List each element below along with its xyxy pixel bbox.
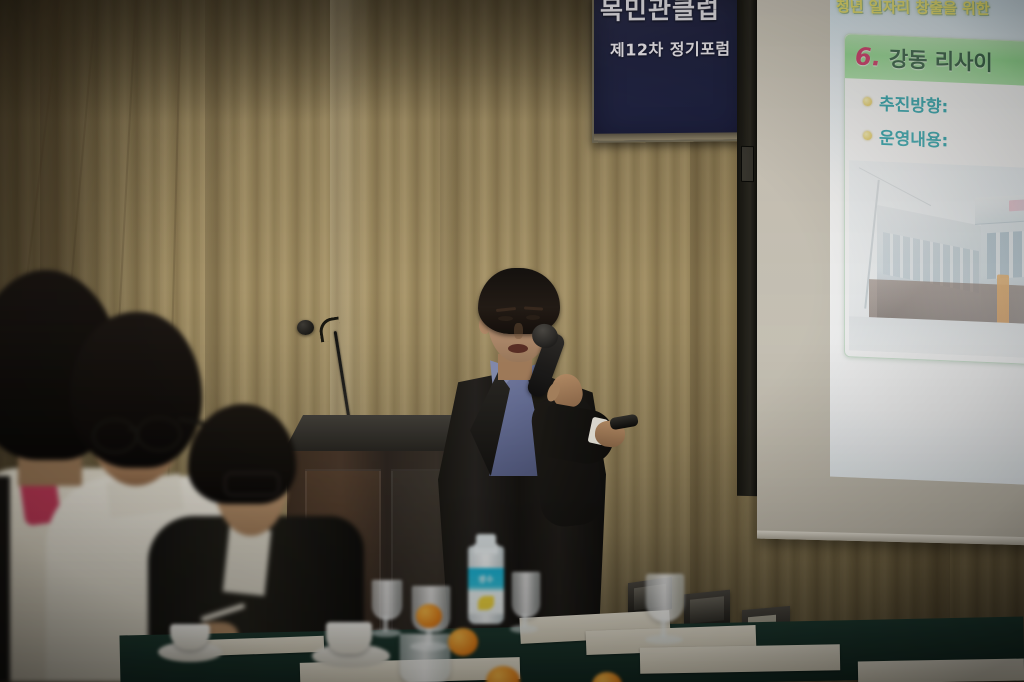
slide-section-heading: 강동 리사이 bbox=[889, 43, 993, 77]
eyeglasses-icon bbox=[92, 418, 138, 454]
presenter-eye bbox=[526, 315, 540, 320]
banner-title: 목민관클럽 bbox=[600, 0, 746, 27]
slide-section-number: 6. bbox=[855, 43, 881, 72]
drinking-glass bbox=[400, 634, 450, 682]
table-items: 생수 bbox=[0, 556, 1024, 682]
photo-front-windows bbox=[987, 227, 1024, 279]
teacup bbox=[326, 622, 372, 654]
presenter-eye bbox=[498, 316, 513, 321]
banner-subtitle: 제12차 정기포럼 bbox=[610, 35, 731, 60]
orange-fruit bbox=[592, 672, 622, 682]
projection-screen: 청년 일자리 창출을 위한 6. 강동 리사이 추진방향: 운영내용: bbox=[737, 0, 1024, 552]
slide-content-card: 6. 강동 리사이 추진방향: 운영내용: · 작가 창작 · bbox=[844, 33, 1024, 366]
glass-foot bbox=[510, 625, 538, 633]
bullet-dot-icon bbox=[863, 97, 872, 106]
projected-slide: 청년 일자리 창출을 위한 6. 강동 리사이 추진방향: 운영내용: bbox=[830, 0, 1024, 485]
presenter-mouth bbox=[508, 344, 528, 353]
lemon-graphic-icon bbox=[478, 596, 494, 610]
water-bottle-cap bbox=[476, 534, 496, 548]
screen-surface: 청년 일자리 창출을 위한 6. 강동 리사이 추진방향: 운영내용: bbox=[757, 0, 1024, 545]
water-bottle-label-text: 생수 bbox=[470, 574, 502, 585]
photo-ground bbox=[849, 316, 1024, 360]
screen-clip bbox=[741, 146, 754, 182]
slide-building-photo: 이료센터 bbox=[849, 160, 1024, 360]
forum-banner: 목민관클럽 제12차 정기포럼 bbox=[592, 0, 748, 143]
presenter-nose bbox=[514, 323, 523, 339]
drinking-glass bbox=[372, 580, 402, 620]
presenter-remote bbox=[609, 414, 639, 431]
photo-scene: 목민관클럽 제12차 정기포럼 청년 일자리 창출을 위한 6. 강동 리사이 bbox=[0, 0, 1024, 682]
eyeglasses-icon bbox=[136, 416, 182, 452]
orange-fruit bbox=[448, 628, 478, 656]
eyeglasses-icon bbox=[224, 472, 280, 496]
slide-section-header: 6. 강동 리사이 bbox=[845, 34, 1024, 87]
drinking-glass bbox=[646, 574, 684, 622]
orange-fruit bbox=[486, 666, 520, 682]
slide-handwritten-title: 청년 일자리 창출을 위한 bbox=[836, 0, 1024, 25]
screen-bottom-bar bbox=[757, 531, 1024, 546]
bullet-dot-icon bbox=[863, 131, 872, 140]
banner-bottom-rail bbox=[594, 132, 746, 141]
slide-bullet-label: 추진방향: bbox=[879, 90, 948, 118]
attendee-with-glasses-hair bbox=[70, 312, 202, 468]
glass-foot bbox=[371, 629, 401, 637]
drinking-glass bbox=[512, 572, 540, 618]
eyeglasses-bridge bbox=[128, 428, 140, 431]
slide-bullet-label: 운영내용: bbox=[879, 124, 948, 152]
orange-fruit bbox=[416, 604, 442, 628]
slide-bullet: 추진방향: bbox=[863, 89, 1024, 122]
glass-foot bbox=[645, 635, 683, 644]
slide-bullet: 운영내용: bbox=[863, 123, 1024, 156]
screen-side-edge bbox=[737, 0, 759, 496]
